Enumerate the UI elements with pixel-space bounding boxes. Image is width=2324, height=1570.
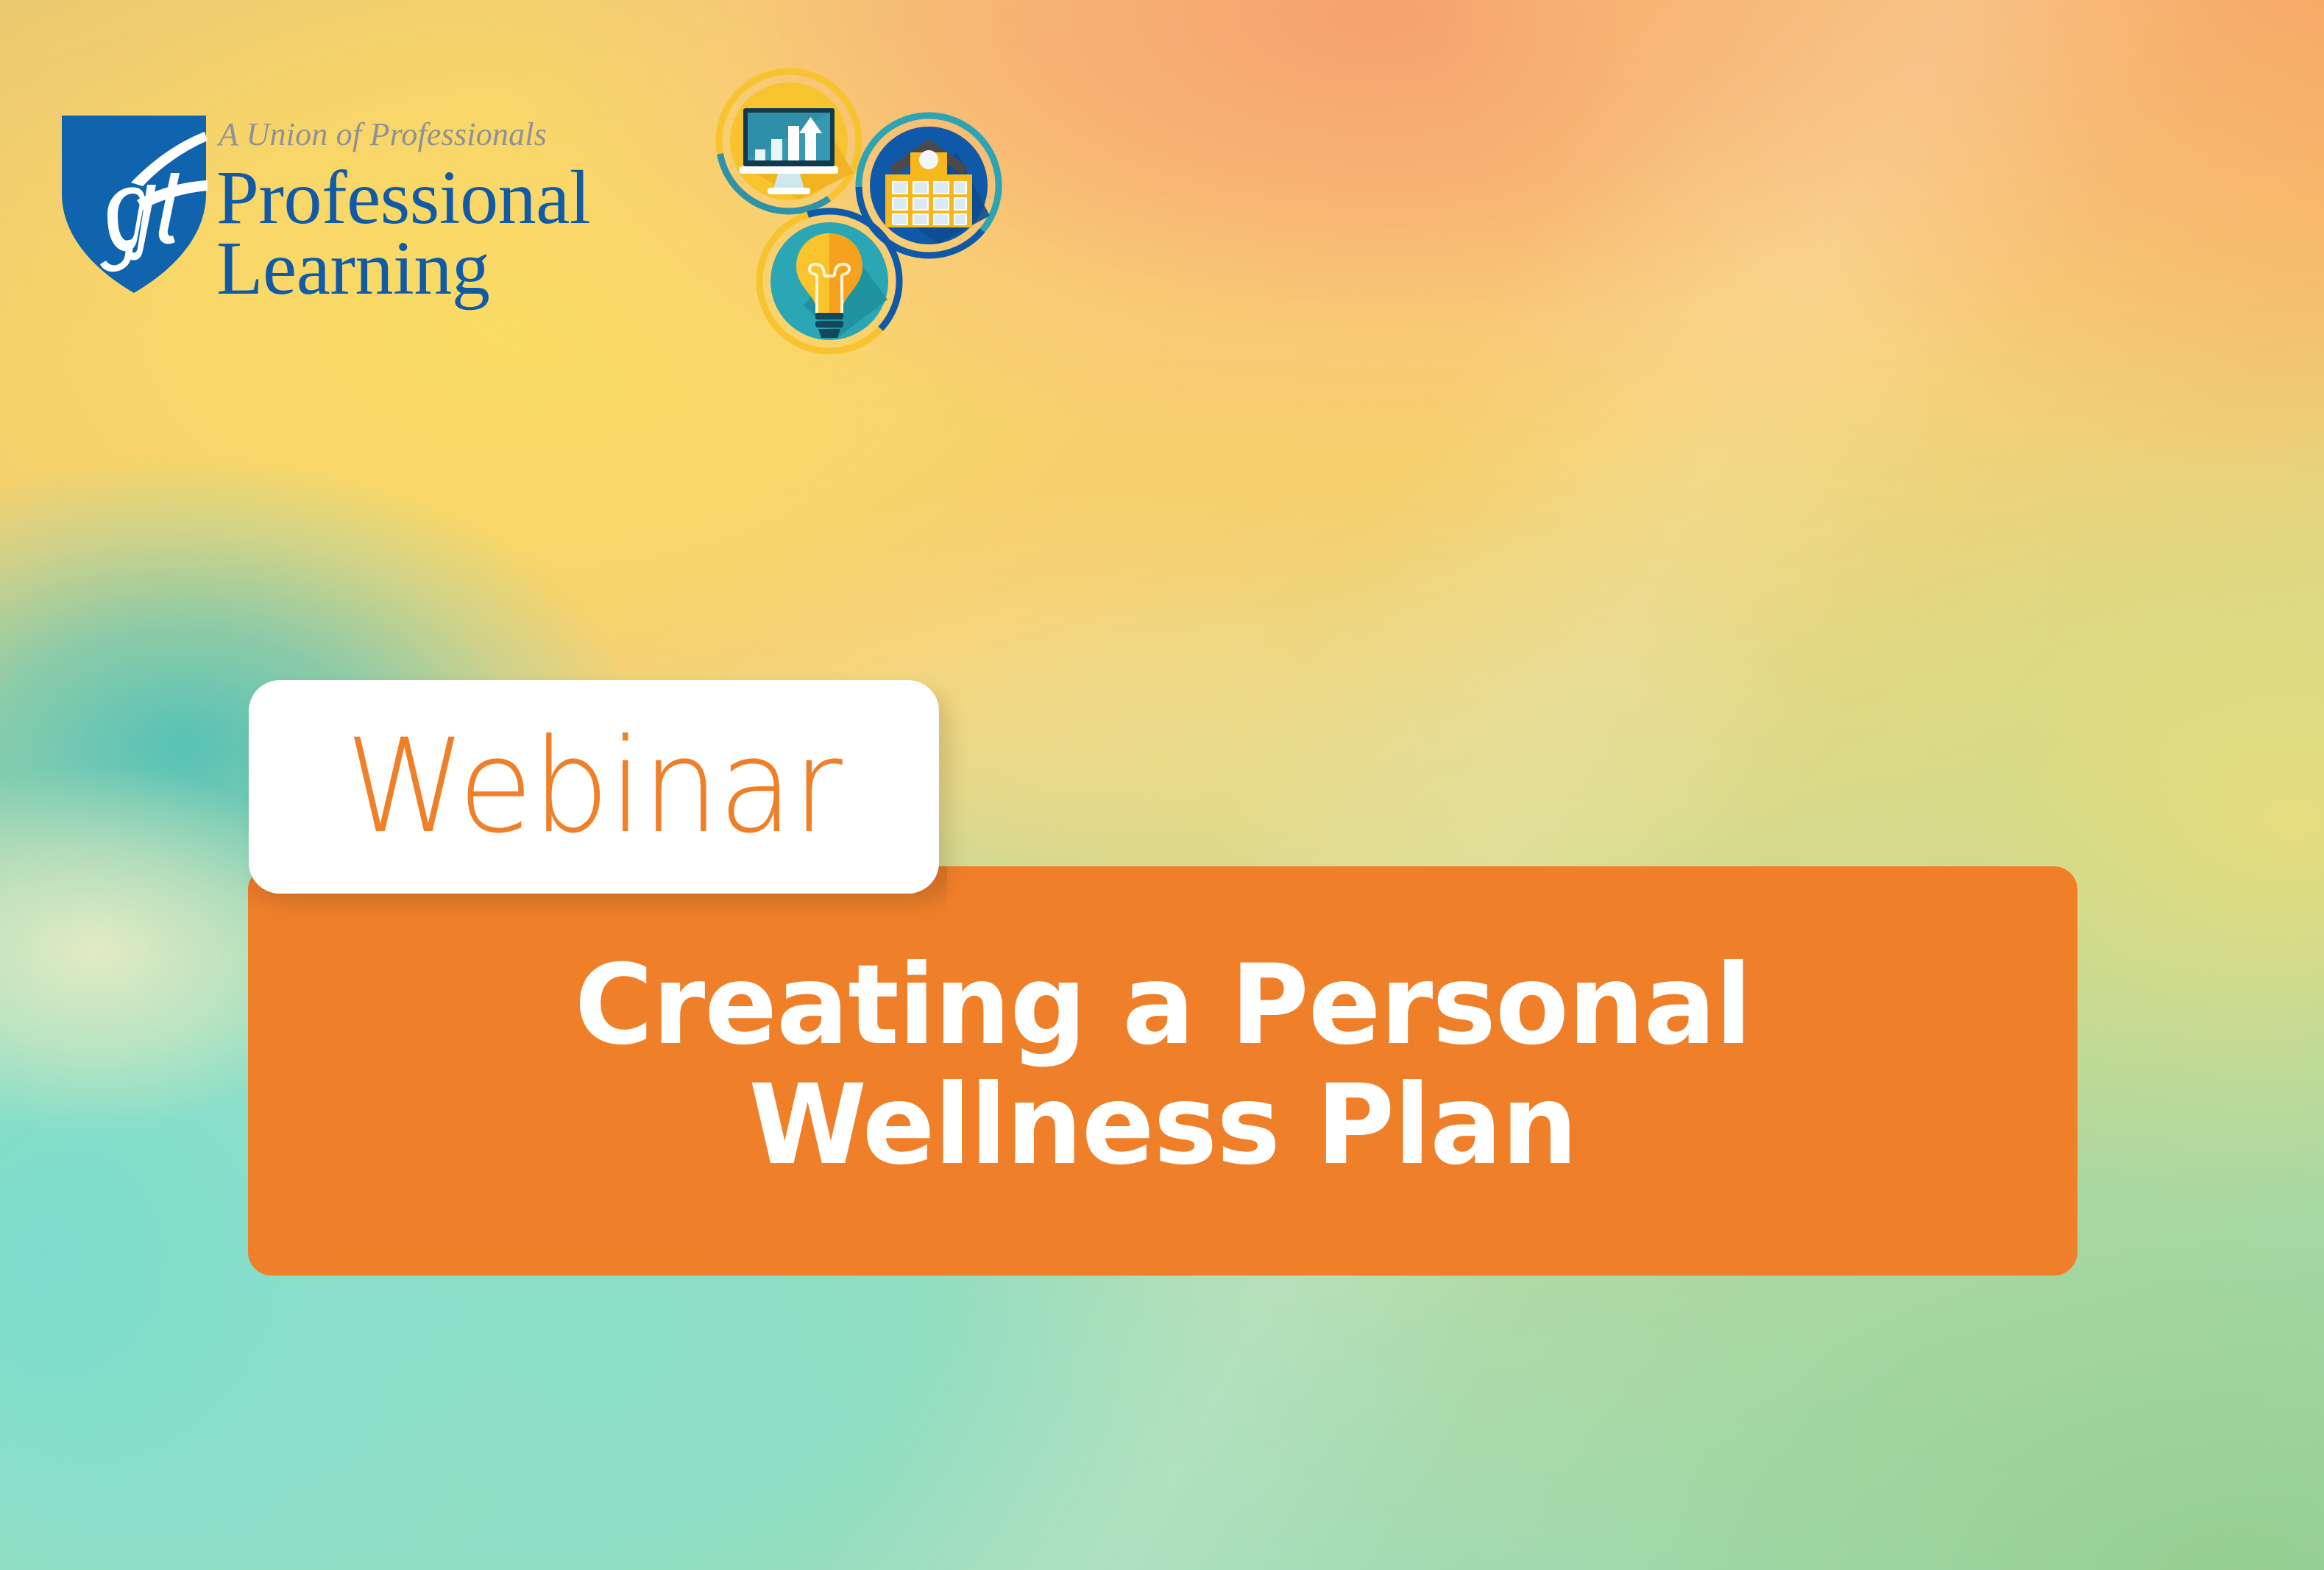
aft-professional-learning-logo: A Union of Professionals Professional Le… (60, 114, 708, 335)
icon-cluster (710, 63, 1027, 372)
promo-graphic-canvas: A Union of Professionals Professional Le… (0, 0, 2324, 1570)
aft-shield-logo (60, 114, 208, 294)
brand-line-2: Learning (216, 233, 702, 304)
logo-wordmark: A Union of Professionals Professional Le… (216, 119, 702, 303)
monitor-bar-chart-icon (710, 63, 868, 221)
webinar-badge: Webinar (249, 680, 939, 894)
webinar-title-panel: Creating a Personal Wellness Plan (248, 866, 2077, 1276)
lightbulb-idea-icon (751, 202, 909, 361)
webinar-title-line-1: Creating a Personal (575, 946, 1751, 1067)
logo-tagline: A Union of Professionals (219, 119, 702, 151)
webinar-title-line-2: Wellness Plan (748, 1066, 1577, 1187)
logo-brandname: Professional Learning (216, 163, 702, 303)
webinar-badge-label: Webinar (346, 722, 842, 852)
